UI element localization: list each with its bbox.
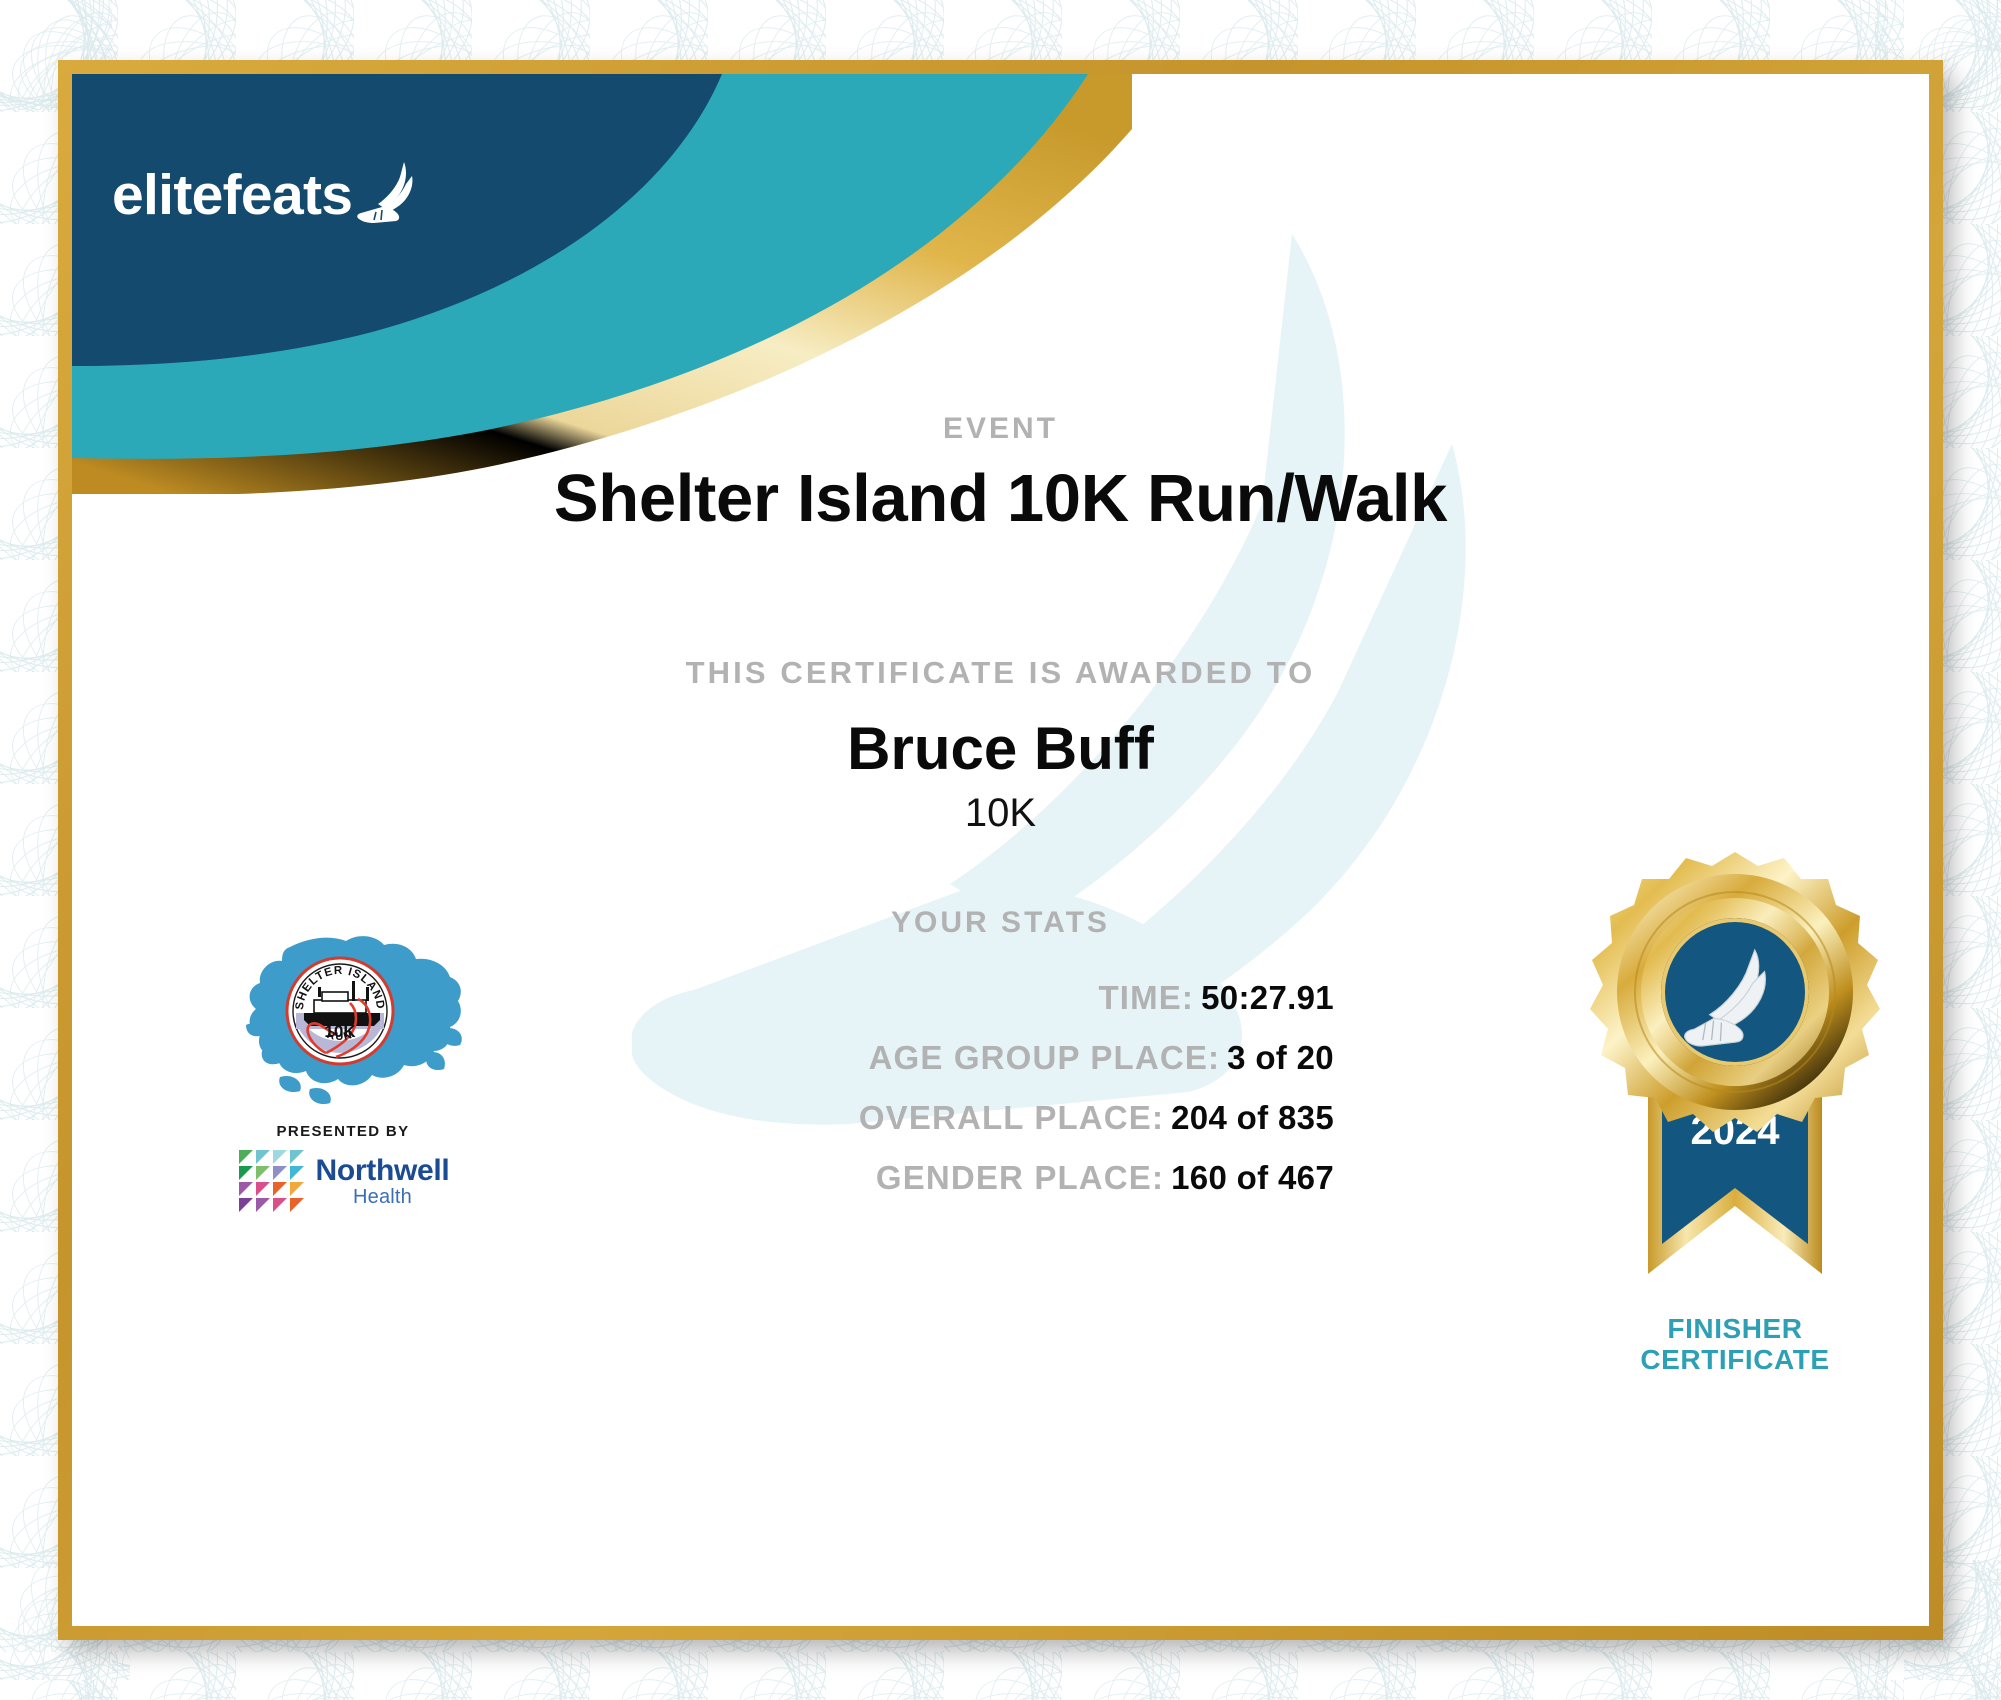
certificate-gold-border: elitefeats bbox=[58, 60, 1943, 1640]
certificate-paper: elitefeats bbox=[72, 74, 1929, 1626]
stat-key: OVERALL PLACE: bbox=[859, 1099, 1164, 1136]
northwell-logo: Northwell Health bbox=[208, 1148, 478, 1214]
stat-value: 3 of 20 bbox=[1227, 1039, 1334, 1076]
finisher-caption-line2: CERTIFICATE bbox=[1550, 1344, 1920, 1375]
stat-value: 50:27.91 bbox=[1201, 979, 1334, 1016]
presented-by-label: PRESENTED BY bbox=[208, 1123, 478, 1140]
winged-foot-icon bbox=[354, 160, 424, 234]
northwell-name: Northwell bbox=[316, 1156, 450, 1186]
recipient-division: 10K bbox=[72, 791, 1929, 836]
northwell-triangles-icon bbox=[237, 1148, 309, 1214]
stat-key: AGE GROUP PLACE: bbox=[869, 1039, 1221, 1076]
event-title: Shelter Island 10K Run/Walk bbox=[72, 460, 1929, 537]
medal-rosette bbox=[1590, 852, 1880, 1132]
shelter-island-map-icon: 10K SHELTER ISLAND RUN bbox=[218, 929, 468, 1114]
elitefeats-logo: elitefeats bbox=[112, 156, 424, 234]
stat-value: 160 of 467 bbox=[1171, 1159, 1334, 1196]
stat-value: 204 of 835 bbox=[1171, 1099, 1334, 1136]
race-logo-block: 10K SHELTER ISLAND RUN bbox=[208, 929, 478, 1214]
finisher-caption-line1: FINISHER bbox=[1550, 1313, 1920, 1344]
recipient-name: Bruce Buff bbox=[72, 714, 1929, 783]
certificate-page: elitefeats bbox=[0, 0, 2001, 1700]
event-label: EVENT bbox=[72, 412, 1929, 446]
northwell-sub: Health bbox=[353, 1187, 412, 1207]
finisher-caption: FINISHER CERTIFICATE bbox=[1550, 1313, 1920, 1376]
elitefeats-wordmark: elitefeats bbox=[112, 162, 352, 228]
badge-arc-bottom-text: RUN bbox=[325, 1029, 354, 1043]
gold-medal-rosette-icon: 2024 bbox=[1570, 844, 1900, 1314]
stat-key: TIME: bbox=[1098, 979, 1194, 1016]
awarded-to-label: THIS CERTIFICATE IS AWARDED TO bbox=[72, 655, 1929, 691]
stat-key: GENDER PLACE: bbox=[876, 1159, 1164, 1196]
certificate-content: EVENT Shelter Island 10K Run/Walk THIS C… bbox=[72, 74, 1929, 1626]
finisher-medal-block: 2024 bbox=[1550, 844, 1920, 1376]
